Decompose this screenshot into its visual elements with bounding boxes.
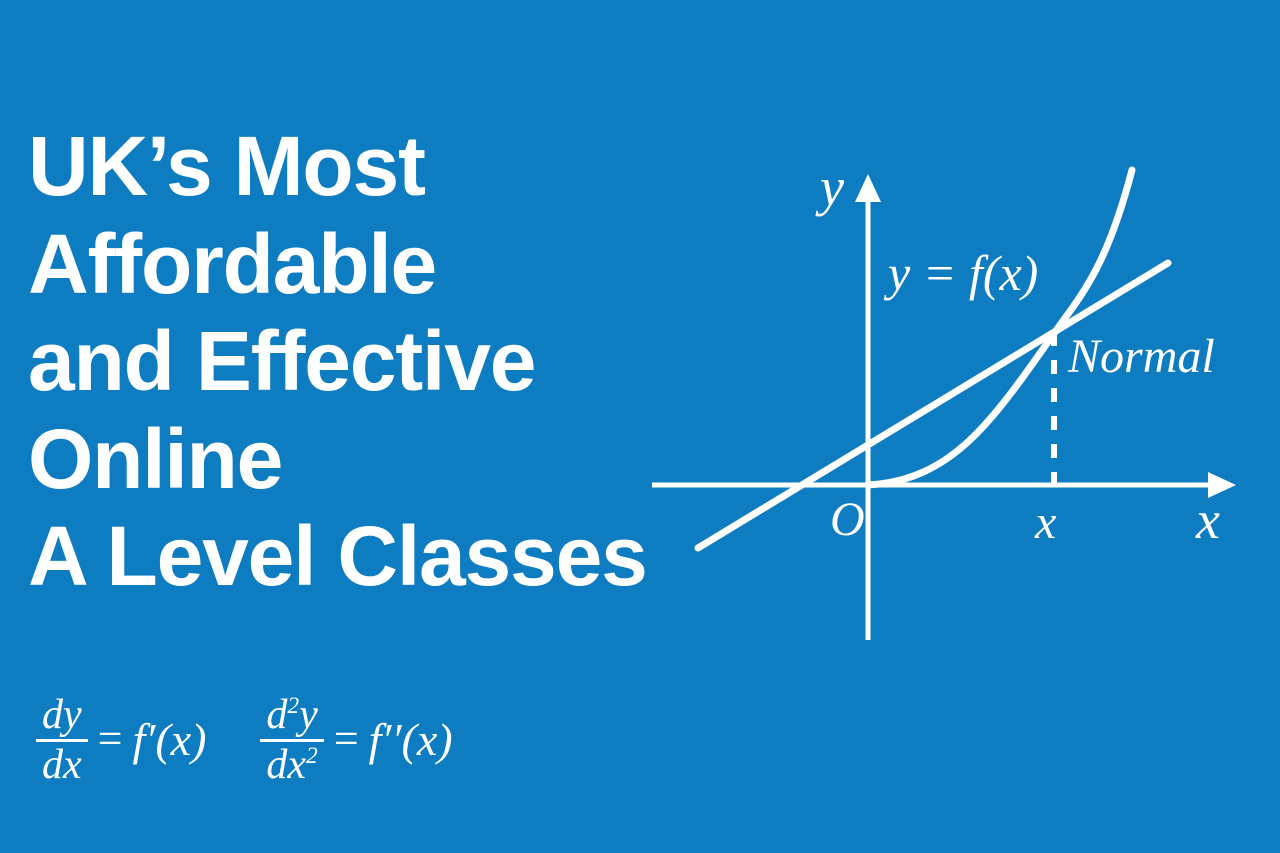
- fraction-dy-dx: dy dx: [36, 694, 88, 787]
- origin-label: O: [830, 493, 865, 546]
- formula-second-derivative: d2y dx2 = f′′(x): [260, 694, 452, 787]
- curve-function-label: y = f(x): [883, 245, 1038, 301]
- numerator-exponent: 2: [287, 693, 299, 719]
- equals-sign: =: [334, 717, 359, 763]
- derivative-formulas: dy dx = f′(x) d2y dx2 = f′′(x): [36, 694, 453, 787]
- denominator-exponent: 2: [306, 743, 318, 769]
- fraction-numerator: dy: [36, 694, 88, 739]
- formula-right-side: f′(x): [132, 717, 206, 763]
- equals-sign: =: [98, 717, 123, 763]
- graph-svg: y x O x y = f(x) Normal: [640, 150, 1260, 570]
- point-x-label: x: [1034, 496, 1056, 549]
- formula-first-derivative: dy dx = f′(x): [36, 694, 206, 787]
- normal-line: [698, 263, 1168, 548]
- fraction-denominator: dx: [36, 739, 88, 787]
- normal-label: Normal: [1067, 330, 1215, 383]
- fraction-denominator: dx2: [260, 739, 323, 787]
- fraction-numerator: d2y: [260, 694, 323, 739]
- function-curve: [868, 170, 1132, 485]
- denominator-dx: dx: [266, 742, 306, 788]
- formula-right-side: f′′(x): [369, 717, 453, 763]
- x-axis-label: x: [1195, 490, 1220, 550]
- fraction-d2y-dx2: d2y dx2: [260, 694, 323, 787]
- numerator-d: d: [266, 692, 287, 738]
- poster-canvas: UK’s Most Affordable and Effective Onlin…: [0, 0, 1280, 853]
- y-axis-label: y: [815, 157, 844, 217]
- calculus-graph-illustration: y x O x y = f(x) Normal: [640, 150, 1260, 570]
- x-axis: [652, 472, 1236, 498]
- numerator-y: y: [299, 692, 318, 738]
- y-axis: [855, 174, 881, 640]
- y-axis-arrow-icon: [855, 174, 881, 202]
